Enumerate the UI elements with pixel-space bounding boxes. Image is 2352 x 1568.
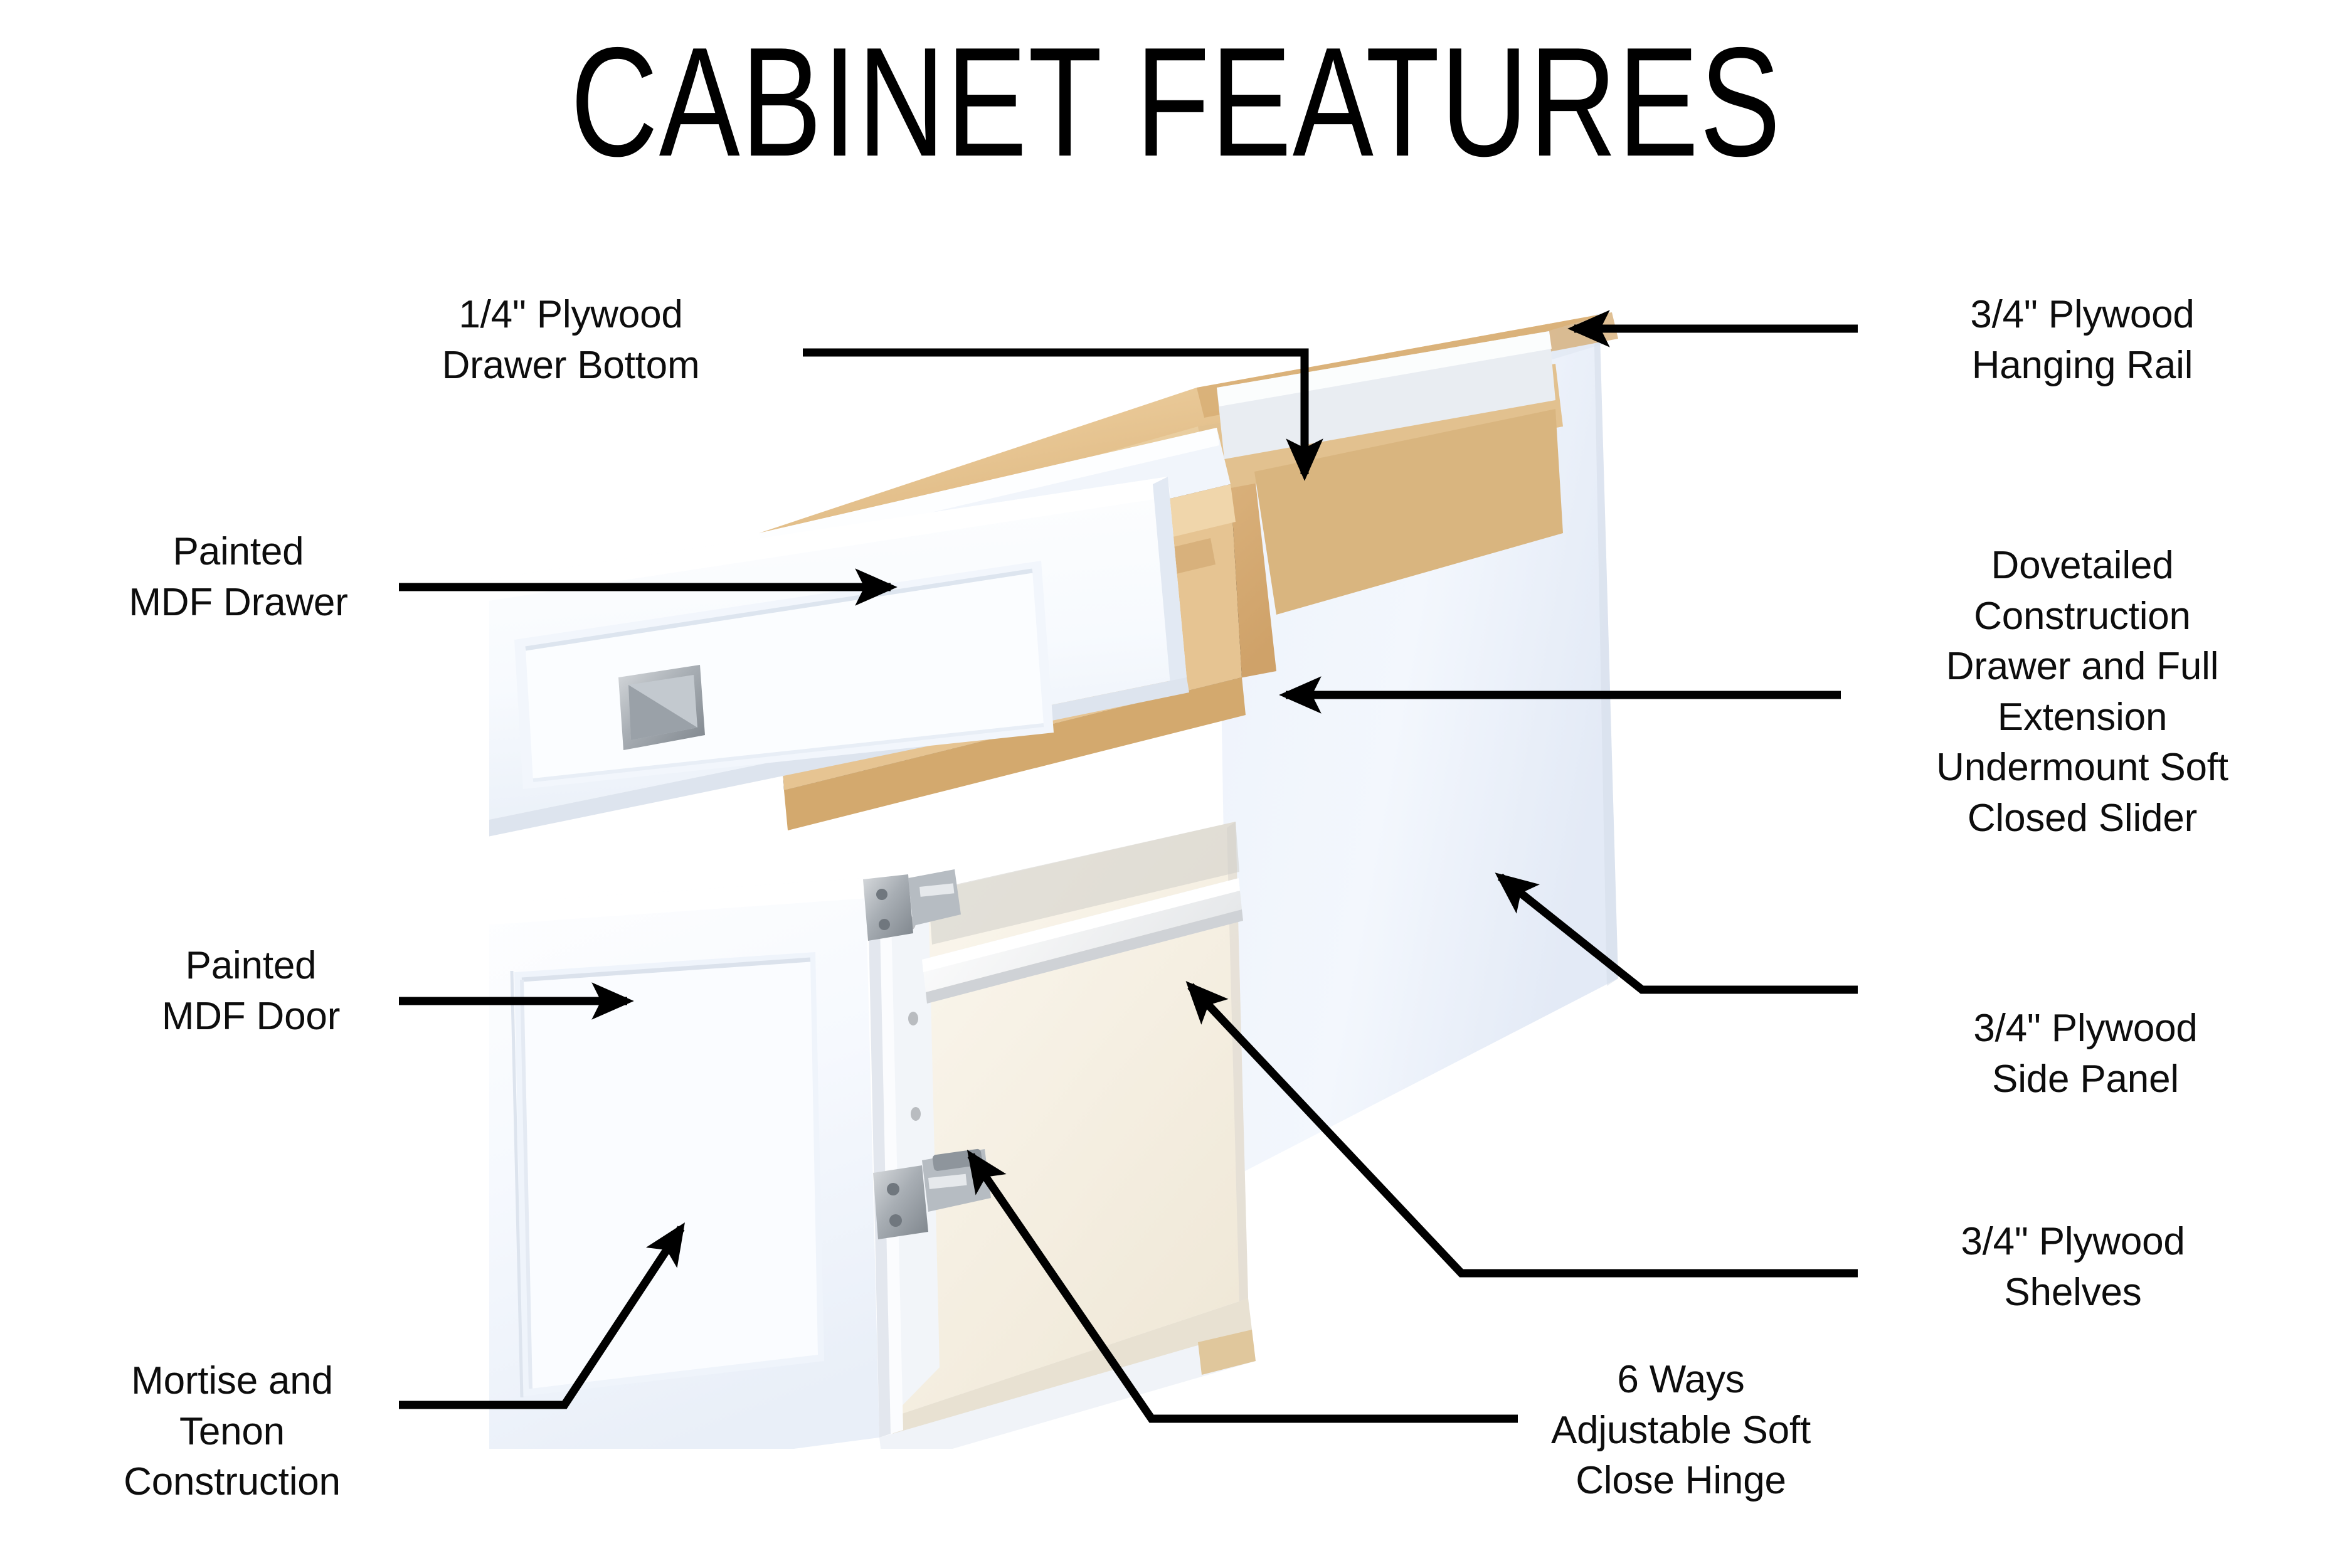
label-line: Extension [1853,692,2311,743]
page-title: CABINET FEATURES [259,24,2094,179]
label-drawer-bottom: 1/4" Plywood Drawer Bottom [351,290,790,391]
label-soft-close-hinge: 6 Ways Adjustable Soft Close Hinge [1461,1355,1900,1507]
label-line: MDF Door [69,992,433,1042]
label-line: Side Panel [1872,1054,2299,1105]
label-line: 3/4" Plywood [1872,1004,2299,1054]
label-line: Close Hinge [1461,1456,1900,1507]
drawer-handle[interactable] [618,665,705,750]
label-line: Undermount Soft [1853,743,2311,793]
label-line: Tenon [38,1407,426,1458]
label-line: Dovetailed [1853,541,2311,591]
label-line: Drawer Bottom [351,341,790,391]
label-hanging-rail: 3/4" Plywood Hanging Rail [1869,290,2296,391]
label-line: Closed Slider [1853,793,2311,844]
label-dovetailed-construction: Dovetailed Construction Drawer and Full … [1853,541,2311,844]
label-mdf-door: Painted MDF Door [69,941,433,1042]
shaker-door [489,878,879,1449]
cabinet-photo [489,238,1907,1449]
label-line: Drawer and Full [1853,642,2311,692]
label-line: 3/4" Plywood [1869,290,2296,341]
label-line: 3/4" Plywood [1853,1217,2292,1268]
label-line: Construction [1853,591,2311,642]
label-line: 6 Ways [1461,1355,1900,1406]
label-mdf-drawer: Painted MDF Drawer [56,527,420,628]
label-mortise-tenon: Mortise and Tenon Construction [38,1356,426,1508]
cabinet-features-diagram: CABINET FEATURES [0,0,2352,1568]
label-line: Hanging Rail [1869,341,2296,391]
label-line: Painted [69,941,433,992]
label-line: Shelves [1853,1268,2292,1318]
label-side-panel: 3/4" Plywood Side Panel [1872,1004,2299,1104]
label-line: Mortise and [38,1356,426,1407]
label-line: Adjustable Soft [1461,1406,1900,1456]
label-line: Painted [56,527,420,578]
label-line: Construction [38,1457,426,1508]
label-line: 1/4" Plywood [351,290,790,341]
label-line: MDF Drawer [56,578,420,628]
label-shelves: 3/4" Plywood Shelves [1853,1217,2292,1318]
